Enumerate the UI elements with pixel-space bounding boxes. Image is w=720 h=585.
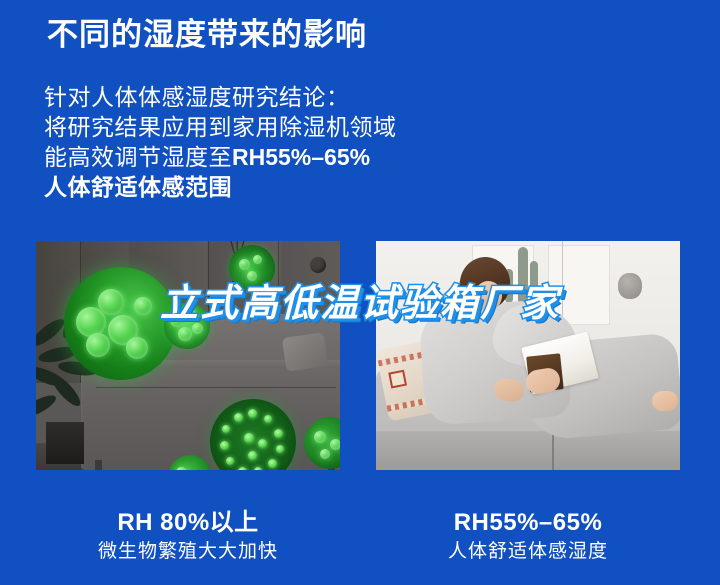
watermark-text: 立式高低温试验箱厂家 [0, 272, 720, 327]
body-line-2: 将研究结果应用到家用除湿机领域 [44, 112, 397, 142]
body-copy: 针对人体体感湿度研究结论： 将研究结果应用到家用除湿机领域 能高效调节湿度至RH… [44, 82, 397, 202]
caption-comfort-humidity: RH55%–65% 人体舒适体感湿度 [376, 508, 680, 566]
cushion [282, 332, 328, 372]
body-line-4: 人体舒适体感范围 [44, 172, 397, 202]
humidity-infographic-poster: 不同的湿度带来的影响 针对人体体感湿度研究结论： 将研究结果应用到家用除湿机领域… [0, 0, 720, 585]
sofa-seat [376, 431, 680, 470]
body-line-3: 能高效调节湿度至RH55%–65% [44, 142, 397, 172]
caption-high-humidity: RH 80%以上 微生物繁殖大大加快 [36, 508, 340, 566]
body-line-3-prefix: 能高效调节湿度至 [44, 144, 232, 170]
caption-subtitle: 人体舒适体感湿度 [376, 538, 680, 566]
sofa-seam [96, 387, 336, 388]
plant-pot [46, 422, 84, 464]
body-line-3-value: RH55%–65% [232, 144, 370, 170]
sofa-seam [552, 431, 554, 470]
caption-title: RH 80%以上 [36, 508, 340, 538]
wall-knob [310, 257, 326, 273]
body-line-1: 针对人体体感湿度研究结论： [44, 82, 397, 112]
page-title: 不同的湿度带来的影响 [47, 17, 367, 53]
person-foot [652, 391, 678, 411]
caption-subtitle: 微生物繁殖大大加快 [36, 538, 340, 566]
caption-title: RH55%–65% [376, 508, 680, 538]
